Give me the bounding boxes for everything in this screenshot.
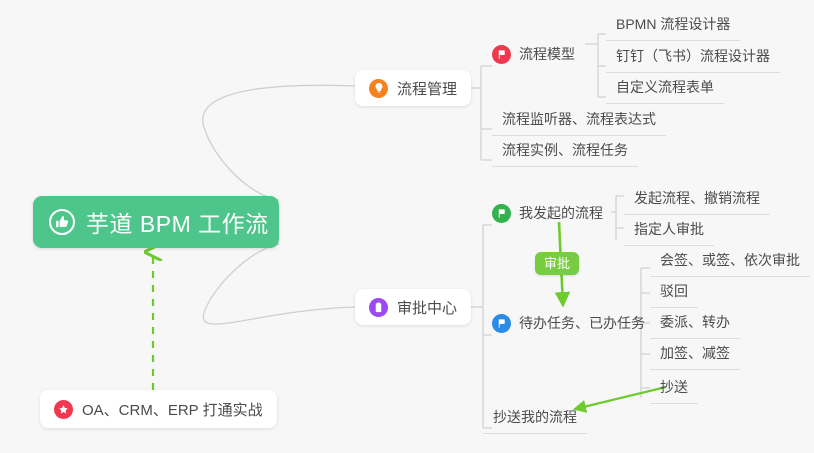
- branch-label-process-management: 流程管理: [397, 78, 457, 99]
- integration-node-label: OA、CRM、ERP 打通实战: [82, 399, 263, 420]
- subnode-process-model[interactable]: 流程模型: [492, 44, 575, 64]
- subnode-label-process-model: 流程模型: [519, 44, 575, 64]
- leaf-node-add-remove-sign[interactable]: 加签、减签: [650, 340, 740, 370]
- lightbulb-icon: [369, 79, 388, 98]
- subnode-label-todo-done-task: 待办任务、已办任务: [519, 313, 645, 333]
- branch-node-process-management[interactable]: 流程管理: [355, 70, 471, 106]
- leaf-node-reject[interactable]: 驳回: [650, 278, 698, 308]
- leaf-node-process-listener[interactable]: 流程监听器、流程表达式: [492, 106, 666, 136]
- leaf-node-custom-form[interactable]: 自定义流程表单: [606, 74, 724, 104]
- connector-root-to-process-management: [203, 85, 355, 200]
- flag-icon: [492, 204, 511, 223]
- leaf-node-bpmn-designer[interactable]: BPMN 流程设计器: [606, 11, 740, 41]
- clipboard-icon: [369, 298, 388, 317]
- thumbs-up-icon: [49, 209, 75, 235]
- star-icon: [54, 400, 73, 419]
- root-node[interactable]: 芋道 BPM 工作流: [33, 196, 279, 248]
- leaf-node-delegate-transfer[interactable]: 委派、转办: [650, 309, 740, 339]
- connector-root-to-approval-center: [203, 244, 355, 324]
- branch-node-approval-center[interactable]: 审批中心: [355, 289, 471, 325]
- flag-icon: [492, 314, 511, 333]
- subnode-label-my-started-process: 我发起的流程: [519, 203, 603, 223]
- branch-label-approval-center: 审批中心: [397, 297, 457, 318]
- leaf-node-start-cancel-process[interactable]: 发起流程、撤销流程: [624, 185, 770, 215]
- subnode-todo-done-task[interactable]: 待办任务、已办任务: [492, 313, 645, 333]
- approve-tag: 审批: [535, 252, 579, 275]
- leaf-node-cc[interactable]: 抄送: [650, 374, 698, 404]
- mindmap-canvas: 芋道 BPM 工作流 流程管理 流程模型 BPMN 流程设计器 钉钉（飞书）流程…: [0, 0, 814, 453]
- leaf-node-assignee-approval[interactable]: 指定人审批: [624, 216, 714, 246]
- integration-node[interactable]: OA、CRM、ERP 打通实战: [40, 390, 277, 428]
- subnode-my-started-process[interactable]: 我发起的流程: [492, 203, 603, 223]
- root-node-label: 芋道 BPM 工作流: [86, 205, 269, 239]
- flag-icon: [492, 45, 511, 64]
- leaf-node-dingtalk-designer[interactable]: 钉钉（飞书）流程设计器: [606, 43, 780, 73]
- leaf-node-cc-my-process[interactable]: 抄送我的流程: [483, 404, 587, 434]
- leaf-node-countersign[interactable]: 会签、或签、依次审批: [650, 247, 810, 277]
- leaf-node-process-instance[interactable]: 流程实例、流程任务: [492, 137, 638, 167]
